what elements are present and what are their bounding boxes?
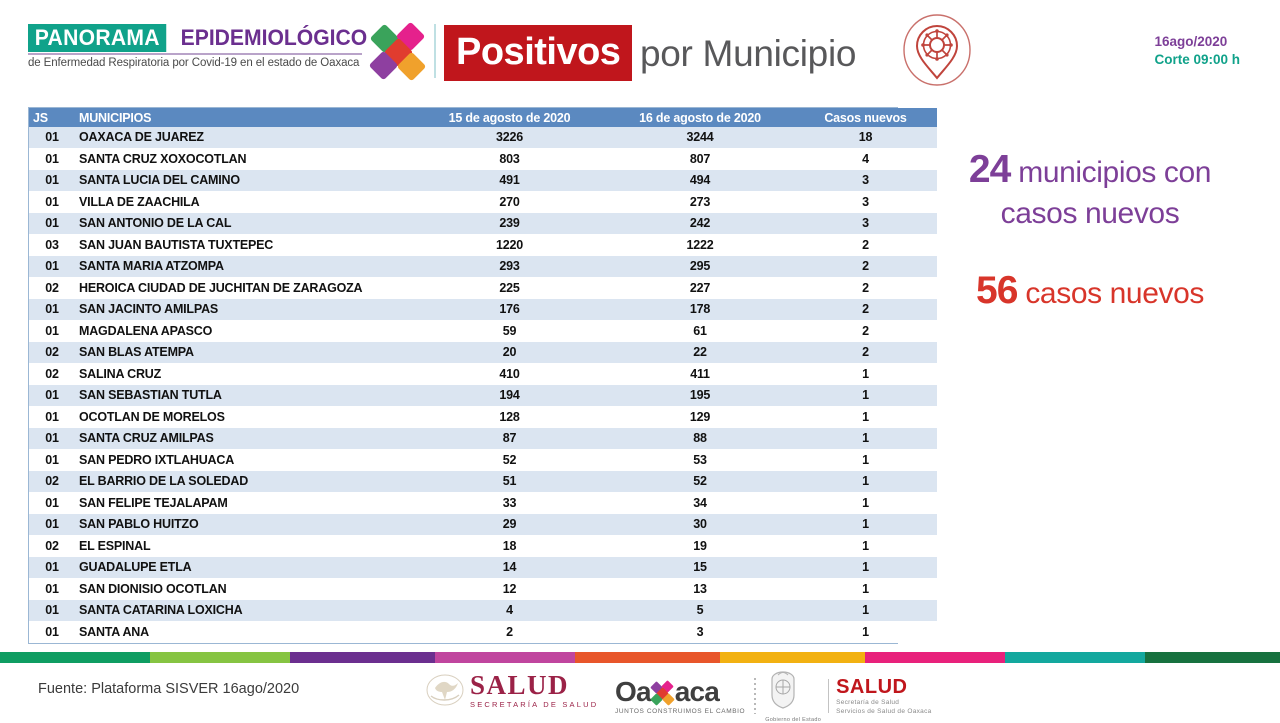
row-value-15: 239 [413, 213, 606, 235]
row-casos-nuevos: 2 [794, 342, 937, 364]
row-municipio: SANTA ANA [75, 621, 413, 643]
row-municipio: SAN PABLO HUITZO [75, 514, 413, 536]
row-js: 01 [29, 320, 75, 342]
row-value-15: 20 [413, 342, 606, 364]
row-js: 01 [29, 578, 75, 600]
table-row: 01MAGDALENA APASCO59612 [29, 320, 937, 342]
table-body: 01OAXACA DE JUAREZ322632441801SANTA CRUZ… [29, 127, 937, 643]
row-js: 01 [29, 127, 75, 148]
row-municipio: OCOTLAN DE MORELOS [75, 406, 413, 428]
row-value-16: 88 [606, 428, 794, 450]
row-value-15: 51 [413, 471, 606, 493]
table-row: 01SAN PEDRO IXTLAHUACA52531 [29, 449, 937, 471]
federal-salud-text: SALUD SECRETARÍA DE SALUD [470, 672, 598, 709]
row-js: 01 [29, 213, 75, 235]
row-js: 02 [29, 363, 75, 385]
row-municipio: SAN JACINTO AMILPAS [75, 299, 413, 321]
row-municipio: GUADALUPE ETLA [75, 557, 413, 579]
report-date-block: 16ago/2020 Corte 09:00 h [1154, 33, 1240, 69]
row-casos-nuevos: 1 [794, 449, 937, 471]
header-vertical-divider [434, 24, 436, 78]
row-municipio: SANTA LUCIA DEL CAMINO [75, 170, 413, 192]
federal-salud-subtitle: SECRETARÍA DE SALUD [470, 701, 598, 709]
state-seal-icon [765, 669, 801, 711]
oaxaca-word-part2: aca [675, 676, 719, 707]
row-js: 03 [29, 234, 75, 256]
row-value-16: 295 [606, 256, 794, 278]
stripe-segment-1 [0, 652, 150, 663]
row-js: 01 [29, 299, 75, 321]
summary-casos-count: 56 [976, 269, 1017, 312]
header: PANORAMA EPIDEMIOLÓGICO de Enfermedad Re… [0, 0, 1280, 100]
state-salud-subtitle-2: Servicios de Salud de Oaxaca [836, 708, 931, 715]
row-js: 01 [29, 256, 75, 278]
column-header-municipios: MUNICIPIOS [75, 108, 413, 127]
oaxaca-diamonds-icon [652, 682, 674, 704]
row-casos-nuevos: 1 [794, 600, 937, 622]
row-municipio: OAXACA DE JUAREZ [75, 127, 413, 148]
row-value-15: 803 [413, 148, 606, 170]
federal-salud-title: SALUD [470, 672, 598, 699]
row-js: 01 [29, 514, 75, 536]
row-value-16: 227 [606, 277, 794, 299]
row-value-15: 410 [413, 363, 606, 385]
row-js: 01 [29, 428, 75, 450]
row-js: 02 [29, 277, 75, 299]
row-js: 01 [29, 557, 75, 579]
table-header-row: JS MUNICIPIOS 15 de agosto de 2020 16 de… [29, 108, 937, 127]
row-value-15: 52 [413, 449, 606, 471]
footer: Fuente: Plataforma SISVER 16ago/2020 SAL… [0, 663, 1280, 718]
row-value-16: 411 [606, 363, 794, 385]
brand-panorama-label: PANORAMA [28, 24, 167, 52]
row-municipio: SALINA CRUZ [75, 363, 413, 385]
row-value-16: 15 [606, 557, 794, 579]
row-value-16: 129 [606, 406, 794, 428]
row-value-15: 225 [413, 277, 606, 299]
row-value-16: 3 [606, 621, 794, 643]
summary-panel: 24 municipios con casos nuevos 56 casos … [915, 145, 1265, 315]
row-js: 02 [29, 471, 75, 493]
row-value-16: 53 [606, 449, 794, 471]
row-casos-nuevos: 1 [794, 471, 937, 493]
row-js: 01 [29, 449, 75, 471]
summary-municipios-label-2: casos nuevos [1001, 197, 1180, 230]
row-municipio: SAN ANTONIO DE LA CAL [75, 213, 413, 235]
table-row: 02SAN BLAS ATEMPA20222 [29, 342, 937, 364]
row-casos-nuevos: 1 [794, 428, 937, 450]
row-value-16: 5 [606, 600, 794, 622]
table-row: 01SANTA LUCIA DEL CAMINO4914943 [29, 170, 937, 192]
row-municipio: SAN PEDRO IXTLAHUACA [75, 449, 413, 471]
state-seal-block: Gobierno del Estado [765, 669, 821, 723]
row-casos-nuevos: 1 [794, 363, 937, 385]
report-cutoff-time: Corte 09:00 h [1154, 51, 1240, 69]
table-row: 01SAN SEBASTIAN TUTLA1941951 [29, 385, 937, 407]
row-municipio: SAN SEBASTIAN TUTLA [75, 385, 413, 407]
row-js: 01 [29, 492, 75, 514]
row-value-16: 273 [606, 191, 794, 213]
state-salud-block: SALUD Secretaría de Salud Servicios de S… [836, 677, 931, 715]
row-value-16: 52 [606, 471, 794, 493]
column-header-date-16: 16 de agosto de 2020 [606, 108, 794, 127]
summary-casos: 56 casos nuevos [915, 268, 1265, 315]
report-date: 16ago/2020 [1154, 33, 1240, 51]
row-municipio: SAN DIONISIO OCOTLAN [75, 578, 413, 600]
column-header-date-15: 15 de agosto de 2020 [413, 108, 606, 127]
summary-municipios-count: 24 [969, 148, 1010, 191]
table-row: 02EL ESPINAL18191 [29, 535, 937, 557]
footer-vertical-divider [828, 679, 829, 713]
row-value-15: 18 [413, 535, 606, 557]
row-value-15: 491 [413, 170, 606, 192]
covid-map-pin-icon [897, 12, 977, 88]
row-value-15: 59 [413, 320, 606, 342]
row-value-16: 22 [606, 342, 794, 364]
state-salud-title: SALUD [836, 677, 931, 697]
row-js: 01 [29, 191, 75, 213]
row-js: 02 [29, 535, 75, 557]
oaxaca-government-logo: Oaaca JUNTOS CONSTRUIMOS EL CAMBIO Gobie… [615, 669, 932, 723]
federal-salud-logo: SALUD SECRETARÍA DE SALUD [425, 667, 598, 713]
row-municipio: SANTA MARIA ATZOMPA [75, 256, 413, 278]
row-casos-nuevos: 1 [794, 621, 937, 643]
table-row: 02EL BARRIO DE LA SOLEDAD51521 [29, 471, 937, 493]
row-value-15: 29 [413, 514, 606, 536]
row-value-16: 1222 [606, 234, 794, 256]
row-value-15: 1220 [413, 234, 606, 256]
row-municipio: SAN JUAN BAUTISTA TUXTEPEC [75, 234, 413, 256]
table-row: 01SAN ANTONIO DE LA CAL2392423 [29, 213, 937, 235]
row-casos-nuevos: 1 [794, 557, 937, 579]
row-value-15: 293 [413, 256, 606, 278]
oaxaca-wordmark: Oaaca JUNTOS CONSTRUIMOS EL CAMBIO [615, 678, 745, 715]
row-value-16: 61 [606, 320, 794, 342]
row-value-16: 19 [606, 535, 794, 557]
row-value-15: 270 [413, 191, 606, 213]
row-casos-nuevos: 2 [794, 320, 937, 342]
municipios-table: JS MUNICIPIOS 15 de agosto de 2020 16 de… [29, 108, 937, 643]
table-row: 01SANTA ANA231 [29, 621, 937, 643]
row-casos-nuevos: 1 [794, 492, 937, 514]
source-note: Fuente: Plataforma SISVER 16ago/2020 [38, 681, 299, 697]
stripe-segment-7 [865, 652, 1005, 663]
row-js: 01 [29, 621, 75, 643]
row-js: 01 [29, 170, 75, 192]
row-js: 01 [29, 385, 75, 407]
row-js: 02 [29, 342, 75, 364]
stripe-segment-4 [435, 652, 575, 663]
row-value-15: 14 [413, 557, 606, 579]
row-value-15: 194 [413, 385, 606, 407]
row-value-15: 4 [413, 600, 606, 622]
row-value-16: 494 [606, 170, 794, 192]
row-value-15: 128 [413, 406, 606, 428]
row-value-16: 13 [606, 578, 794, 600]
page-title-highlight: Positivos [444, 25, 632, 81]
municipios-table-container: JS MUNICIPIOS 15 de agosto de 2020 16 de… [28, 107, 898, 644]
table-row: 01SANTA MARIA ATZOMPA2932952 [29, 256, 937, 278]
column-header-js: JS [29, 108, 75, 127]
brand-block: PANORAMA EPIDEMIOLÓGICO de Enfermedad Re… [28, 24, 368, 69]
row-municipio: VILLA DE ZAACHILA [75, 191, 413, 213]
state-salud-subtitle-1: Secretaría de Salud [836, 699, 931, 706]
row-municipio: MAGDALENA APASCO [75, 320, 413, 342]
table-row: 01SAN PABLO HUITZO29301 [29, 514, 937, 536]
oaxaca-tagline: JUNTOS CONSTRUIMOS EL CAMBIO [615, 708, 745, 715]
row-municipio: SANTA CATARINA LOXICHA [75, 600, 413, 622]
row-municipio: HEROICA CIUDAD DE JUCHITAN DE ZARAGOZA [75, 277, 413, 299]
table-row: 01SAN DIONISIO OCOTLAN12131 [29, 578, 937, 600]
table-row: 01SANTA CATARINA LOXICHA451 [29, 600, 937, 622]
brand-title-line: PANORAMA EPIDEMIOLÓGICO [28, 24, 368, 52]
row-value-16: 178 [606, 299, 794, 321]
table-row: 01SAN FELIPE TEJALAPAM33341 [29, 492, 937, 514]
stripe-segment-2 [150, 652, 290, 663]
table-row: 01SANTA CRUZ AMILPAS87881 [29, 428, 937, 450]
row-value-16: 195 [606, 385, 794, 407]
row-value-15: 176 [413, 299, 606, 321]
row-value-16: 34 [606, 492, 794, 514]
table-row: 02SALINA CRUZ4104111 [29, 363, 937, 385]
table-row: 01OAXACA DE JUAREZ3226324418 [29, 127, 937, 148]
table-row: 01OCOTLAN DE MORELOS1281291 [29, 406, 937, 428]
row-value-15: 3226 [413, 127, 606, 148]
stripe-segment-6 [720, 652, 865, 663]
row-casos-nuevos: 1 [794, 535, 937, 557]
row-value-15: 2 [413, 621, 606, 643]
row-municipio: SANTA CRUZ AMILPAS [75, 428, 413, 450]
table-row: 01SANTA CRUZ XOXOCOTLAN8038074 [29, 148, 937, 170]
brand-subtitle: de Enfermedad Respiratoria por Covid-19 … [28, 57, 368, 69]
table-header: JS MUNICIPIOS 15 de agosto de 2020 16 de… [29, 108, 937, 127]
row-value-15: 12 [413, 578, 606, 600]
stripe-segment-3 [290, 652, 435, 663]
stripe-segment-9 [1145, 652, 1280, 663]
table-row: 03SAN JUAN BAUTISTA TUXTEPEC122012222 [29, 234, 937, 256]
row-municipio: SANTA CRUZ XOXOCOTLAN [75, 148, 413, 170]
row-casos-nuevos: 1 [794, 578, 937, 600]
row-value-16: 807 [606, 148, 794, 170]
row-js: 01 [29, 406, 75, 428]
row-municipio: EL BARRIO DE LA SOLEDAD [75, 471, 413, 493]
oaxaca-wordmark-text: Oaaca [615, 678, 745, 706]
row-casos-nuevos: 1 [794, 385, 937, 407]
row-value-15: 87 [413, 428, 606, 450]
table-row: 02HEROICA CIUDAD DE JUCHITAN DE ZARAGOZA… [29, 277, 937, 299]
row-municipio: SAN FELIPE TEJALAPAM [75, 492, 413, 514]
brand-epidemiologico-label: EPIDEMIOLÓGICO [172, 24, 367, 52]
row-municipio: EL ESPINAL [75, 535, 413, 557]
row-value-15: 33 [413, 492, 606, 514]
row-municipio: SAN BLAS ATEMPA [75, 342, 413, 364]
row-value-16: 30 [606, 514, 794, 536]
table-row: 01GUADALUPE ETLA14151 [29, 557, 937, 579]
row-value-16: 3244 [606, 127, 794, 148]
oaxaca-word-part1: Oa [615, 676, 651, 707]
column-header-casos-nuevos: Casos nuevos [794, 108, 937, 127]
row-js: 01 [29, 600, 75, 622]
stripe-segment-8 [1005, 652, 1145, 663]
footer-dotted-divider [754, 678, 756, 714]
summary-casos-label: casos nuevos [1025, 277, 1204, 310]
row-value-16: 242 [606, 213, 794, 235]
table-row: 01VILLA DE ZAACHILA2702733 [29, 191, 937, 213]
summary-municipios: 24 municipios con casos nuevos [915, 145, 1265, 233]
color-stripe [0, 652, 1280, 663]
row-js: 01 [29, 148, 75, 170]
brand-underline-divider [28, 53, 362, 55]
stripe-segment-5 [575, 652, 720, 663]
summary-municipios-label-1: municipios con [1018, 156, 1211, 189]
row-casos-nuevos: 1 [794, 514, 937, 536]
mexico-eagle-icon [425, 670, 465, 710]
row-casos-nuevos: 1 [794, 406, 937, 428]
diamonds-cluster-icon [372, 25, 428, 81]
page-title-rest: por Municipio [640, 28, 856, 72]
table-row: 01SAN JACINTO AMILPAS1761782 [29, 299, 937, 321]
